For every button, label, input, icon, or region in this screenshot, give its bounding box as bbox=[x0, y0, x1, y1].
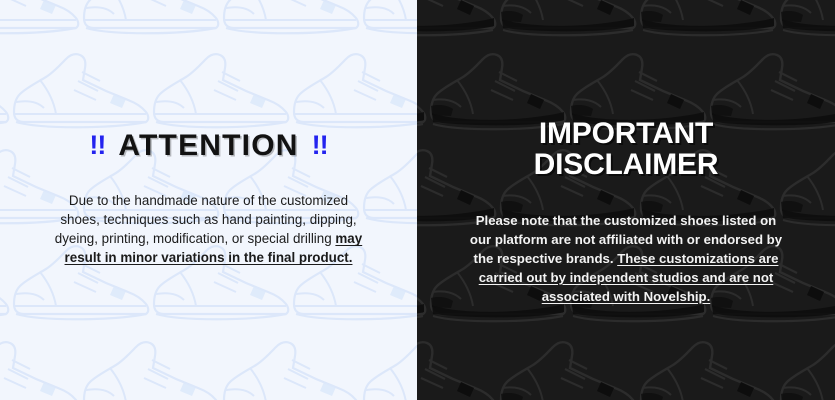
disclaimer-banner: !! ATTENTION !! Due to the handmade natu… bbox=[0, 0, 835, 400]
exclamation-left-icon: !! bbox=[89, 132, 105, 159]
exclamation-right-icon: !! bbox=[312, 132, 328, 159]
disclaimer-title-line1: IMPORTANT bbox=[534, 118, 719, 149]
disclaimer-content: IMPORTANT DISCLAIMER Please note that th… bbox=[417, 0, 835, 400]
disclaimer-heading: IMPORTANT DISCLAIMER bbox=[534, 118, 719, 180]
attention-heading: !! ATTENTION !! bbox=[89, 131, 327, 161]
disclaimer-body: Please note that the customized shoes li… bbox=[467, 211, 785, 306]
attention-title: ATTENTION bbox=[118, 131, 298, 161]
attention-body-normal: Due to the handmade nature of the custom… bbox=[55, 193, 357, 246]
attention-body: Due to the handmade nature of the custom… bbox=[49, 191, 369, 267]
disclaimer-title-line2: DISCLAIMER bbox=[534, 149, 719, 180]
disclaimer-panel: IMPORTANT DISCLAIMER Please note that th… bbox=[417, 0, 835, 400]
attention-content: !! ATTENTION !! Due to the handmade natu… bbox=[0, 0, 417, 400]
attention-panel: !! ATTENTION !! Due to the handmade natu… bbox=[0, 0, 417, 400]
